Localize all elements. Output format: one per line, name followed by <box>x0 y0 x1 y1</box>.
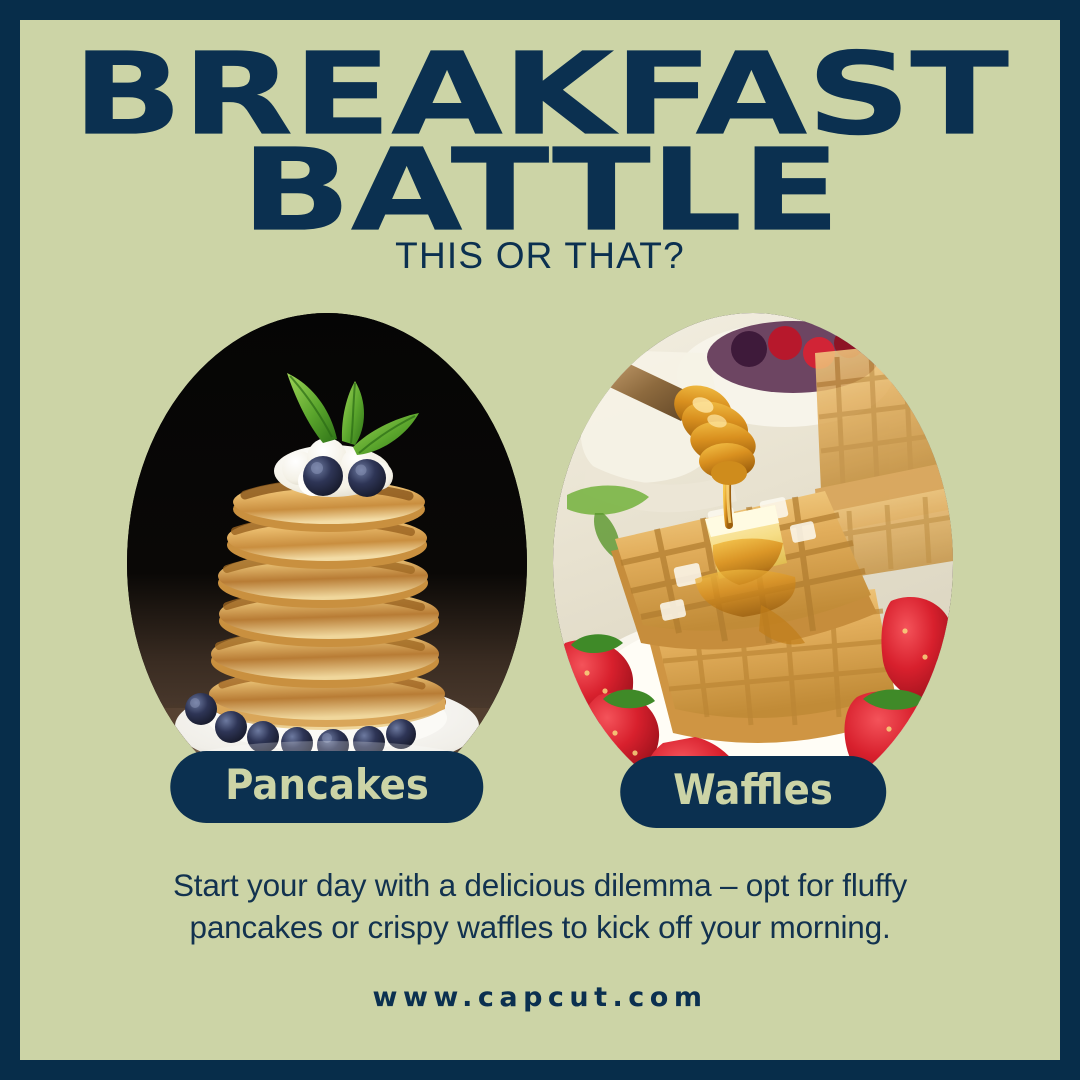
site-url[interactable]: www.capcut.com <box>20 982 1060 1013</box>
description: Start your day with a delicious dilemma … <box>100 865 980 948</box>
waffles-photo <box>553 313 953 813</box>
option-label-pancakes[interactable]: Pancakes <box>170 751 483 823</box>
comparison-section: Pancakes <box>20 313 1060 853</box>
option-waffles[interactable]: Waffles <box>553 313 953 813</box>
title-line-2: BATTLE <box>20 146 1060 237</box>
subtitle: THIS OR THAT? <box>20 235 1060 277</box>
option-label-waffles-text: Waffles <box>673 769 833 811</box>
option-pancakes[interactable]: Pancakes <box>127 313 527 813</box>
option-label-pancakes-text: Pancakes <box>225 764 429 806</box>
page-title: BREAKFAST BATTLE <box>20 50 1060 235</box>
pancake-stack-photo <box>127 313 527 813</box>
description-line-2: pancakes or crispy waffles to kick off y… <box>100 907 980 949</box>
poster-canvas: BREAKFAST BATTLE THIS OR THAT? <box>20 20 1060 1060</box>
description-line-1: Start your day with a delicious dilemma … <box>100 865 980 907</box>
option-label-waffles[interactable]: Waffles <box>620 756 886 828</box>
poster-frame: BREAKFAST BATTLE THIS OR THAT? <box>0 0 1080 1080</box>
